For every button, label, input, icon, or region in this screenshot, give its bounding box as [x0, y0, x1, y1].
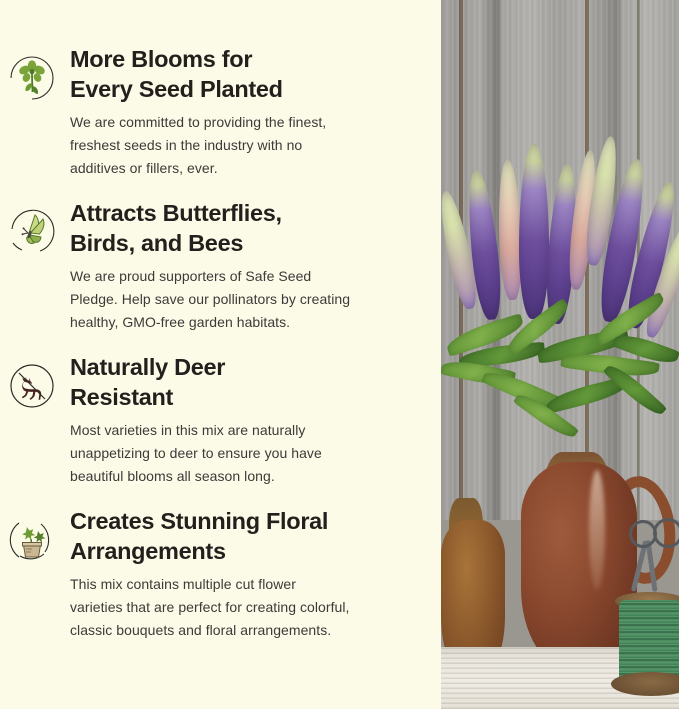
feature-text: Naturally Deer Resistant Most varieties …: [70, 348, 330, 488]
feature-body: Most varieties in this mix are naturally…: [70, 419, 322, 488]
flower-icon: [6, 52, 58, 104]
feature-item-floral-arrangements: Creates Stunning Floral Arrangements Thi…: [0, 502, 429, 642]
feature-text: More Blooms for Every Seed Planted We ar…: [70, 40, 334, 180]
feature-heading: Creates Stunning Floral Arrangements: [70, 506, 349, 566]
feature-text: Creates Stunning Floral Arrangements Thi…: [70, 502, 357, 642]
feature-item-deer-resistant: Naturally Deer Resistant Most varieties …: [0, 348, 429, 488]
feature-text: Attracts Butterflies, Birds, and Bees We…: [70, 194, 358, 334]
lupine-bouquet: [441, 150, 679, 480]
pitcher-highlight: [589, 470, 605, 590]
potted-plant-icon: [6, 514, 58, 566]
product-lifestyle-photo: [441, 0, 679, 709]
feature-body: This mix contains multiple cut flower va…: [70, 573, 349, 642]
butterfly-icon: [6, 206, 58, 258]
lupine-spike: [519, 144, 549, 319]
feature-item-more-blooms: More Blooms for Every Seed Planted We ar…: [0, 40, 429, 180]
feature-body: We are committed to providing the finest…: [70, 111, 326, 180]
feature-heading: More Blooms for Every Seed Planted: [70, 44, 326, 104]
no-deer-icon: [6, 360, 58, 412]
feature-body: We are proud supporters of Safe Seed Ple…: [70, 265, 350, 334]
feature-list: More Blooms for Every Seed Planted We ar…: [0, 0, 441, 709]
feature-item-attracts-pollinators: Attracts Butterflies, Birds, and Bees We…: [0, 194, 429, 334]
scissors-ring: [653, 518, 679, 548]
feature-panel: More Blooms for Every Seed Planted We ar…: [0, 0, 679, 709]
feature-heading: Attracts Butterflies, Birds, and Bees: [70, 198, 350, 258]
feature-heading: Naturally Deer Resistant: [70, 352, 322, 412]
